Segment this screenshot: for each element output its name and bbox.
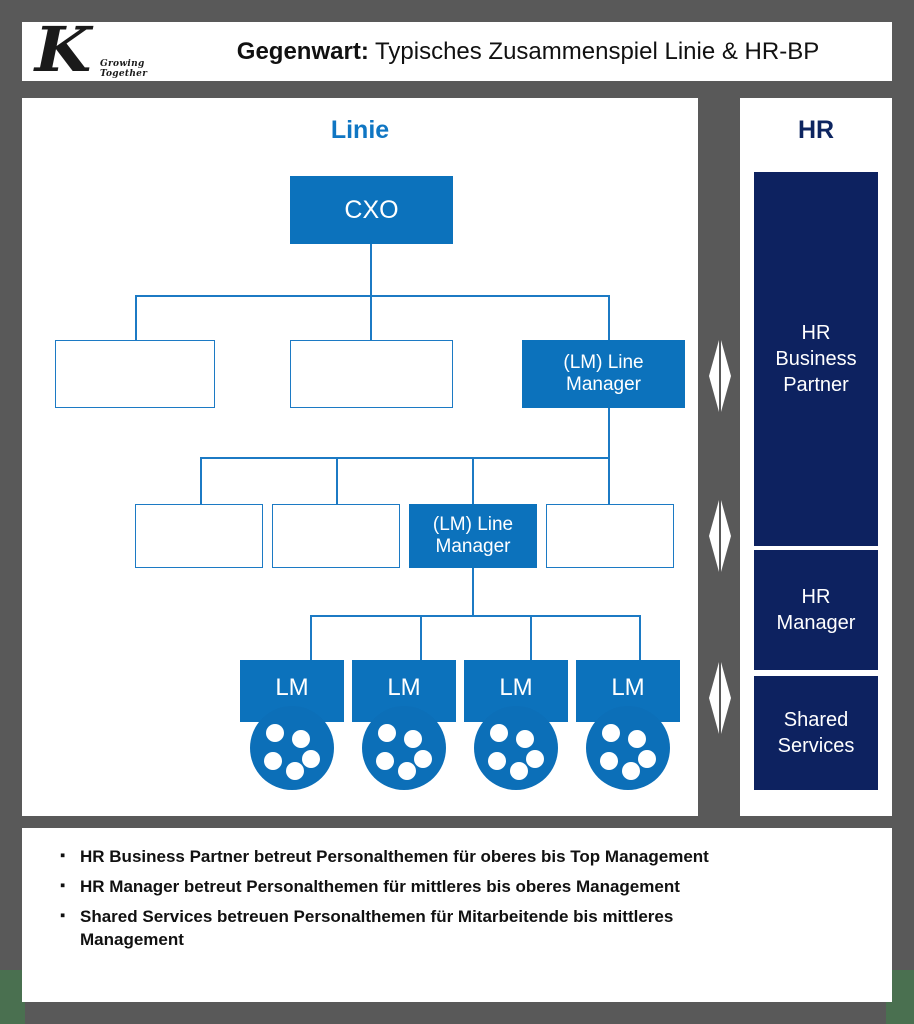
connector-tier2-drop-1 xyxy=(135,295,137,341)
connector-tier4-drop-2 xyxy=(420,615,422,661)
org-node-tier2-empty-2[interactable] xyxy=(290,340,453,408)
note-item-1: ▪ HR Business Partner betreut Personalth… xyxy=(46,846,868,869)
note-text-1: HR Business Partner betreut Personalthem… xyxy=(80,846,709,869)
connector-tier4-drop-1 xyxy=(310,615,312,661)
connector-tier3-bus xyxy=(200,457,610,459)
note-item-3: ▪ Shared Services betreuen Personaltheme… xyxy=(46,906,868,952)
connector-tier3-down xyxy=(608,408,610,458)
connector-tier3-drop-1 xyxy=(200,457,202,505)
org-node-lm-4-label: LM xyxy=(607,674,648,702)
org-node-tier3-empty-1[interactable] xyxy=(135,504,263,568)
org-node-tier2-line-manager-label: (LM) Line Manager xyxy=(522,352,685,396)
hr-block-hr-manager[interactable]: HR Manager xyxy=(754,550,878,670)
hr-heading: HR xyxy=(740,116,892,145)
org-node-lm-1-label: LM xyxy=(271,674,312,702)
org-node-lm-2-label: LM xyxy=(383,674,424,702)
org-node-tier2-line-manager[interactable]: (LM) Line Manager xyxy=(522,340,685,408)
org-node-tier3-empty-3[interactable] xyxy=(546,504,674,568)
hr-block-shared-services-label: Shared Services xyxy=(778,707,855,759)
double-headed-vertical-arrow-icon-3 xyxy=(707,662,733,734)
hr-block-business-partner[interactable]: HR Business Partner xyxy=(754,172,878,546)
note-bullet-icon-3: ▪ xyxy=(46,906,80,926)
org-node-cxo[interactable]: CXO xyxy=(290,176,453,244)
org-node-tier3-line-manager[interactable]: (LM) Line Manager xyxy=(409,504,537,568)
note-text-3: Shared Services betreuen Personalthemen … xyxy=(80,906,780,952)
connector-cxo-down xyxy=(370,244,372,296)
org-node-lm-3-label: LM xyxy=(495,674,536,702)
company-logo: K Growing Together xyxy=(22,23,182,80)
page-title-strong: Gegenwart: xyxy=(237,38,369,65)
org-node-tier2-empty-1[interactable] xyxy=(55,340,215,408)
connector-tier3-drop-2 xyxy=(336,457,338,505)
org-node-tier3-line-manager-label: (LM) Line Manager xyxy=(409,514,537,558)
title-bar: K Growing Together Gegenwart: Typisches … xyxy=(22,22,892,81)
page-title-rest: Typisches Zusammenspiel Linie & HR-BP xyxy=(369,38,819,65)
connector-tier2-drop-2 xyxy=(370,295,372,341)
connector-tier4-down xyxy=(472,568,474,616)
logo-k-letter-icon: K xyxy=(35,23,87,80)
org-node-tier3-empty-2[interactable] xyxy=(272,504,400,568)
connector-tier4-bus xyxy=(310,615,640,617)
linie-panel: Linie CXO (LM) Line Manager xyxy=(22,98,698,816)
note-text-2: HR Manager betreut Personalthemen für mi… xyxy=(80,876,680,899)
double-headed-vertical-arrow-icon-1 xyxy=(707,340,733,412)
logo-tagline: Growing Together xyxy=(100,59,182,79)
team-group-icon-3 xyxy=(474,706,558,790)
note-bullet-icon-1: ▪ xyxy=(46,846,80,866)
connector-tier2-bus xyxy=(135,295,610,297)
team-group-icon-1 xyxy=(250,706,334,790)
hr-panel: HR HR Business Partner HR Manager Shared… xyxy=(740,98,892,816)
connector-tier4-drop-3 xyxy=(530,615,532,661)
notes-panel: ▪ HR Business Partner betreut Personalth… xyxy=(22,828,892,1002)
connector-tier4-drop-4 xyxy=(639,615,641,661)
note-item-2: ▪ HR Manager betreut Personalthemen für … xyxy=(46,876,868,899)
team-group-icon-2 xyxy=(362,706,446,790)
connector-tier3-drop-3 xyxy=(472,457,474,505)
hr-block-hr-manager-label: HR Manager xyxy=(777,584,856,636)
org-node-cxo-label: CXO xyxy=(340,196,402,225)
double-headed-vertical-arrow-icon-2 xyxy=(707,500,733,572)
team-group-icon-4 xyxy=(586,706,670,790)
org-chart: CXO (LM) Line Manager xyxy=(22,98,698,816)
page-title: Gegenwart: Typisches Zusammenspiel Linie… xyxy=(182,38,892,66)
connector-tier3-drop-4 xyxy=(608,457,610,505)
connector-tier2-drop-3 xyxy=(608,295,610,341)
note-bullet-icon-2: ▪ xyxy=(46,876,80,896)
hr-block-shared-services[interactable]: Shared Services xyxy=(754,676,878,790)
hr-block-business-partner-label: HR Business Partner xyxy=(775,320,856,398)
